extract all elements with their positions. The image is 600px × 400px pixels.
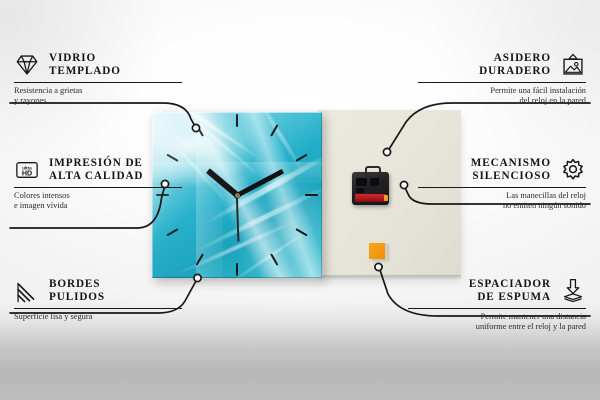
feature-asidero-duradero: ASIDERO DURADERO Permite una fácil insta… bbox=[418, 52, 586, 107]
clock-center-cap bbox=[235, 193, 240, 198]
feature-description: Las manecillas del reloj no emiten ningú… bbox=[418, 191, 586, 212]
feature-description: Superficie lisa y segura bbox=[14, 312, 182, 322]
ultra-hd-icon: ultra HD bbox=[14, 157, 40, 183]
feature-title: BORDES PULIDOS bbox=[49, 278, 105, 305]
product-infographic: VIDRIO TEMPLADO Resistencia a grietas y … bbox=[0, 0, 600, 400]
feature-title: ESPACIADOR DE ESPUMA bbox=[469, 278, 551, 305]
clock-tick bbox=[236, 114, 238, 127]
feature-espaciador-espuma: ESPACIADOR DE ESPUMA Permite mantener un… bbox=[408, 278, 586, 333]
clock-tick bbox=[305, 194, 318, 196]
mechanism-battery bbox=[355, 194, 386, 202]
feature-title: ASIDERO DURADERO bbox=[479, 52, 551, 79]
diamond-icon bbox=[14, 52, 40, 78]
feature-divider bbox=[14, 187, 182, 188]
feature-divider bbox=[14, 308, 182, 309]
picture-frame-hanger-icon bbox=[560, 52, 586, 78]
feature-description: Resistencia a grietas y rayones bbox=[14, 86, 182, 107]
foam-spacer-block bbox=[369, 243, 385, 259]
feature-bordes-pulidos: BORDES PULIDOS Superficie lisa y segura bbox=[14, 278, 182, 322]
feature-divider bbox=[408, 308, 586, 309]
gear-icon bbox=[560, 157, 586, 183]
feature-title: IMPRESIÓN DE ALTA CALIDAD bbox=[49, 157, 143, 184]
feature-title: MECANISMO SILENCIOSO bbox=[471, 157, 551, 184]
feature-divider bbox=[418, 187, 586, 188]
mechanism-hanger-hook bbox=[365, 166, 381, 176]
feature-divider bbox=[14, 82, 182, 83]
feature-divider bbox=[418, 82, 586, 83]
polished-edges-icon bbox=[14, 278, 40, 304]
feature-description: Colores intensos e imagen vívida bbox=[14, 191, 182, 212]
svg-text:HD: HD bbox=[22, 170, 32, 178]
feature-vidrio-templado: VIDRIO TEMPLADO Resistencia a grietas y … bbox=[14, 52, 182, 107]
clock-tick bbox=[236, 263, 238, 276]
feature-title: VIDRIO TEMPLADO bbox=[49, 52, 121, 79]
clock-mechanism bbox=[352, 172, 389, 205]
feature-mecanismo-silencioso: MECANISMO SILENCIOSO Las manecillas del … bbox=[418, 157, 586, 212]
feature-description: Permite mantener una distancia uniforme … bbox=[408, 312, 586, 333]
feature-description: Permite una fácil instalación del reloj … bbox=[418, 86, 586, 107]
feature-impresion-alta-calidad: ultra HD IMPRESIÓN DE ALTA CALIDAD Color… bbox=[14, 157, 182, 212]
foam-spacer-arrow-icon bbox=[560, 278, 586, 304]
